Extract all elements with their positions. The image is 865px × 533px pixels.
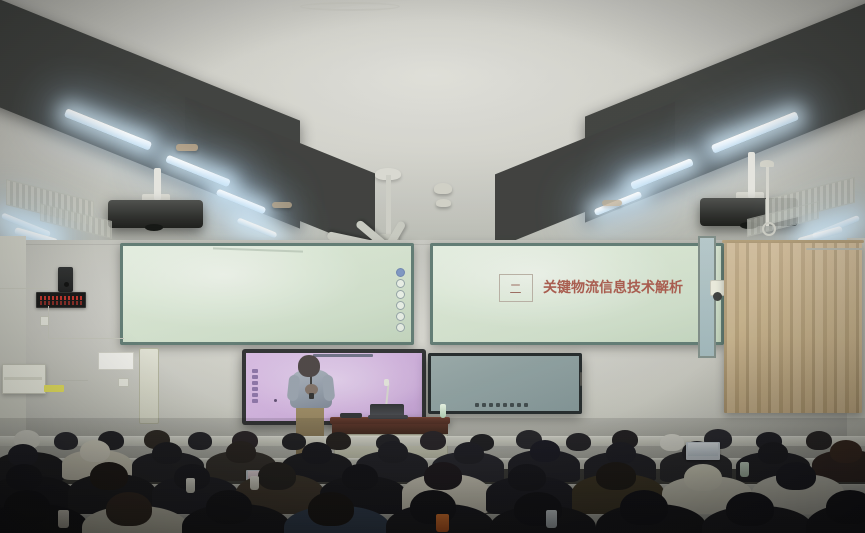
audience-head [684, 464, 722, 491]
board-button[interactable] [489, 403, 493, 407]
audience-head [90, 462, 128, 490]
board-control-buttons[interactable] [475, 403, 528, 407]
audience-head [726, 492, 774, 526]
board-button[interactable] [496, 403, 500, 407]
projector-rod-right [748, 152, 755, 198]
left-wall-cabinet [139, 348, 159, 424]
wall-conduit-horizontal [0, 288, 48, 289]
wall-camera-left [58, 267, 73, 292]
ceiling-duct-ring [300, 2, 400, 11]
fan-downrod [386, 175, 391, 237]
audience-head [6, 464, 42, 490]
audience-head [54, 432, 78, 450]
slide-section-number: 二 [499, 274, 533, 302]
audience-head [152, 442, 182, 464]
wall-cable [62, 380, 88, 381]
circle-icon[interactable] [396, 279, 405, 288]
audience-head [8, 444, 38, 466]
wall-notice-sign [98, 352, 134, 370]
yellow-label-tag [44, 385, 64, 392]
circle-icon[interactable] [396, 290, 405, 299]
circle-icon[interactable] [396, 268, 405, 277]
audience-head [106, 492, 152, 526]
board-button[interactable] [503, 403, 507, 407]
drink-bottle-orange [436, 514, 449, 532]
drink-bottle [186, 478, 195, 493]
drink-bottle [546, 510, 557, 528]
microphone-head-icon [384, 379, 389, 386]
iwb-toolbar[interactable] [252, 369, 258, 403]
board-cable [580, 372, 582, 386]
iwb-cursor-dot [274, 399, 277, 402]
audience-head [454, 442, 484, 464]
projector-lens-left [145, 224, 163, 231]
audience-head [308, 492, 354, 526]
drink-bottle [58, 510, 69, 528]
audience-head [258, 462, 296, 490]
ceiling-speaker-icon [436, 199, 451, 207]
iwb-tool-button[interactable] [252, 399, 258, 403]
iwb-tool-button[interactable] [252, 369, 258, 373]
led-scrolling-sign [36, 292, 86, 308]
projector-rod-left [154, 168, 161, 200]
audience-head [410, 490, 456, 524]
audience-area [0, 418, 865, 533]
water-bottle-podium [440, 404, 446, 418]
sprinkler-ring [762, 222, 776, 236]
audience-head [806, 431, 832, 450]
projection-screen-right[interactable]: 二 关键物流信息技术解析 [430, 243, 724, 345]
lecturer-badge [309, 393, 314, 399]
led-text-row [40, 296, 82, 300]
curtain-rod-extension [806, 248, 864, 250]
board-button[interactable] [482, 403, 486, 407]
audience-head [80, 440, 110, 462]
projection-screen-left[interactable] [120, 243, 414, 345]
audience-head [606, 442, 636, 464]
audience-head [596, 462, 636, 490]
smoke-detector-icon [434, 183, 452, 194]
audience-head [620, 490, 668, 525]
iwb-tool-button[interactable] [252, 375, 258, 379]
wall-socket[interactable] [118, 378, 129, 387]
drink-bottle [740, 462, 749, 477]
audience-head [206, 490, 252, 524]
camera-lens-icon [64, 282, 69, 287]
lecturer-head [298, 355, 320, 377]
iwb-tool-button[interactable] [252, 381, 258, 385]
student-laptop-screen [688, 443, 718, 456]
audience-head [188, 432, 212, 450]
wall-shelf-divider [4, 377, 42, 380]
audience-head [424, 462, 462, 490]
classroom-board-right[interactable] [428, 353, 582, 414]
sprinkler-drop-pole [766, 164, 769, 226]
ceiling-light-small [272, 202, 292, 208]
audience-head [566, 433, 591, 451]
audience-head [226, 441, 256, 463]
audience-head [342, 464, 378, 490]
audience-head [830, 440, 862, 463]
sprinkler-head-icon [760, 160, 774, 167]
board-button[interactable] [475, 403, 479, 407]
audience-head [508, 464, 546, 491]
audience-head [302, 442, 332, 464]
drink-cup [250, 476, 259, 490]
lecture-hall-photo: 二 关键物流信息技术解析 [0, 0, 865, 533]
board-button[interactable] [517, 403, 521, 407]
circle-icon[interactable] [396, 323, 405, 332]
screen-left-toolbar[interactable] [396, 268, 405, 332]
audience-head [776, 462, 816, 490]
wall-conduit-long [48, 338, 124, 339]
ceiling-light-small [176, 144, 198, 151]
board-button[interactable] [524, 403, 528, 407]
board-button[interactable] [510, 403, 514, 407]
window-curtain[interactable] [724, 243, 862, 413]
speaker-cone-icon [713, 292, 722, 301]
audience-head [758, 442, 788, 464]
iwb-tool-button[interactable] [252, 387, 258, 391]
audience-head [378, 441, 408, 463]
circle-icon[interactable] [396, 312, 405, 321]
audience-head [420, 431, 446, 450]
ceiling-light-small [602, 200, 622, 206]
slide-heading: 关键物流信息技术解析 [543, 277, 683, 297]
audience-head [660, 434, 684, 451]
audience-head [530, 440, 560, 462]
led-text-row [40, 301, 82, 305]
iwb-tool-button[interactable] [252, 393, 258, 397]
audience-head [826, 490, 865, 524]
wall-switch-box[interactable] [40, 316, 49, 326]
circle-icon[interactable] [396, 301, 405, 310]
audience-head [4, 490, 50, 524]
iwb-top-bar [313, 354, 373, 357]
